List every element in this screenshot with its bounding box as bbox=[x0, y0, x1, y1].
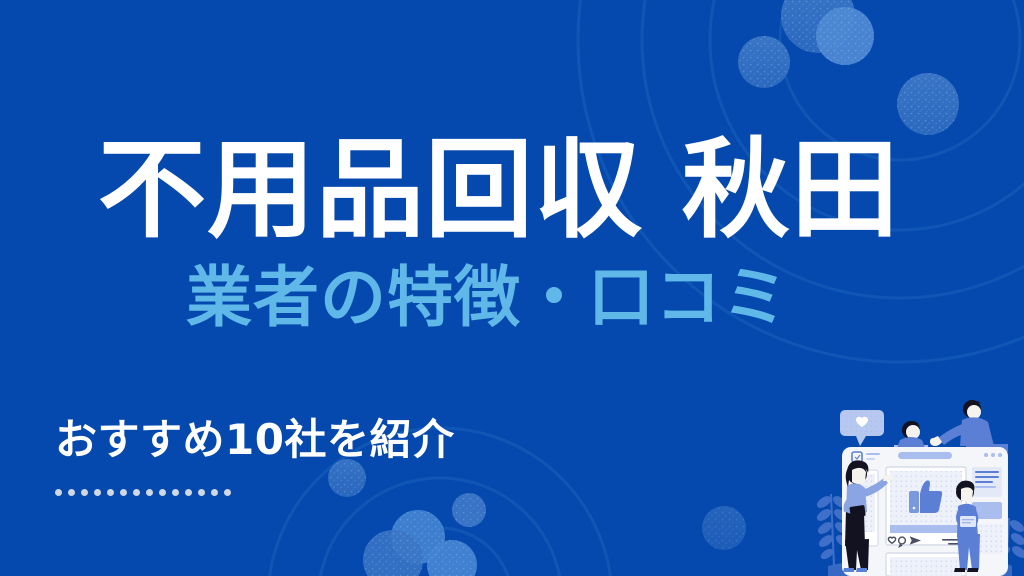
divider-dot bbox=[146, 489, 153, 496]
decor-circles-top-right bbox=[738, 0, 959, 135]
divider-dot bbox=[198, 489, 205, 496]
heart-speech-bubble-icon bbox=[840, 410, 884, 446]
divider-dot bbox=[185, 489, 192, 496]
divider-dot bbox=[211, 489, 218, 496]
person-standing-top bbox=[894, 421, 928, 451]
divider-dot bbox=[55, 489, 62, 496]
divider-dot bbox=[120, 489, 127, 496]
divider-dot bbox=[81, 489, 88, 496]
decor-circle-near-illustration bbox=[702, 506, 746, 550]
divider-dot bbox=[159, 489, 166, 496]
divider-dot bbox=[107, 489, 114, 496]
page-title: 不用品回収 秋田 bbox=[98, 137, 900, 245]
divider-dot bbox=[172, 489, 179, 496]
divider-dot bbox=[68, 489, 75, 496]
social-media-engagement-illustration bbox=[800, 390, 1024, 576]
tagline: おすすめ10社を紹介 bbox=[55, 419, 454, 461]
decor-circles-bottom-center bbox=[328, 459, 486, 576]
divider-dot bbox=[133, 489, 140, 496]
person-thumbs-up-top-right bbox=[930, 400, 1008, 452]
divider-dot bbox=[94, 489, 101, 496]
divider-dot bbox=[224, 489, 231, 496]
banner-canvas: 不用品回収 秋田 業者の特徴・口コミ おすすめ10社を紹介 bbox=[0, 0, 1024, 576]
dotted-divider bbox=[55, 488, 231, 496]
page-subtitle: 業者の特徴・口コミ bbox=[186, 265, 789, 331]
